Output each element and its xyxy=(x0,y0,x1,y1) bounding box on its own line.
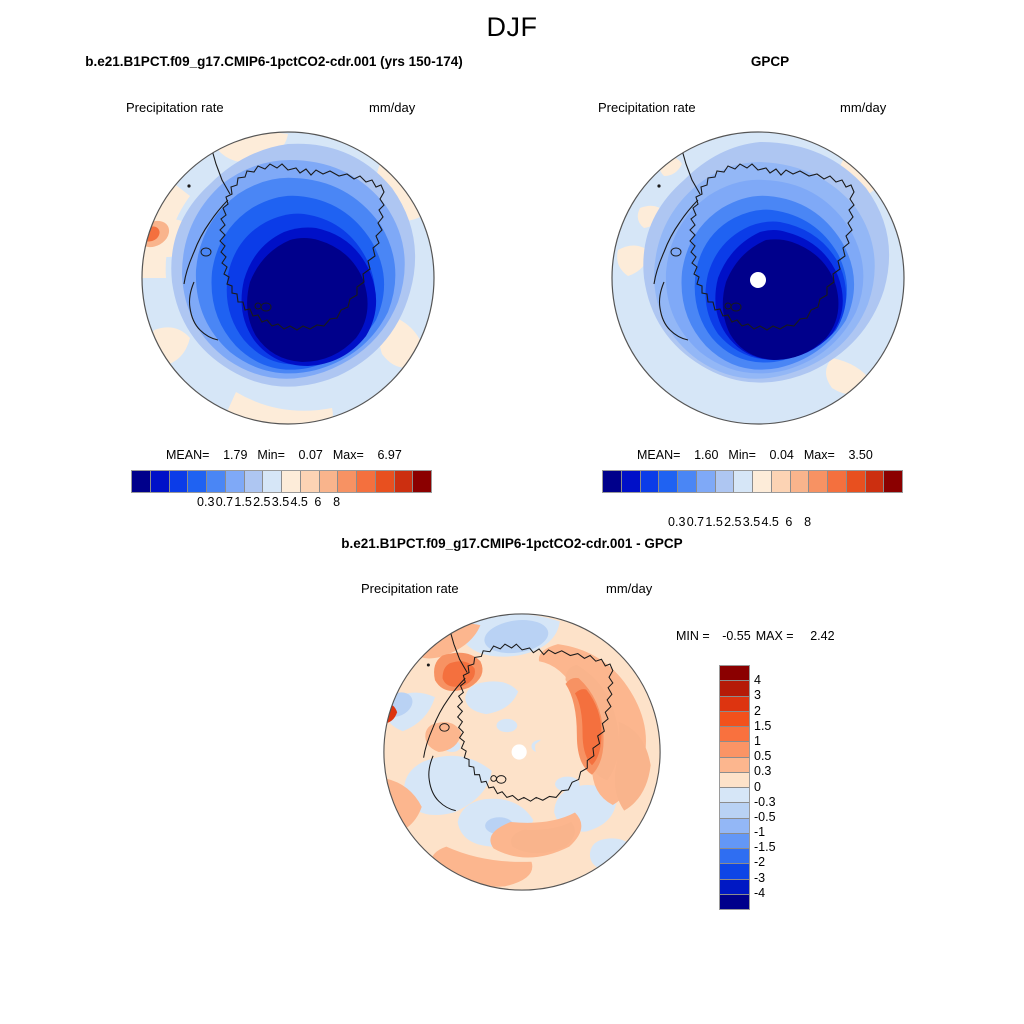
colorbar-cell-13 xyxy=(847,471,866,492)
colorbar-tick-7: 0 xyxy=(754,780,761,794)
colorbar-cell-6 xyxy=(245,471,264,492)
max-label: MAX = xyxy=(756,629,794,643)
colorbar-cell-8 xyxy=(720,788,749,803)
colorbar-cell-13 xyxy=(376,471,395,492)
units-label-model: mm/day xyxy=(369,100,415,115)
colorbar-tick-5: 0.5 xyxy=(754,749,771,763)
colorbar-tick-0: 0.3 xyxy=(197,495,214,509)
stats-difference: MIN = -0.55 MAX = 2.42 xyxy=(676,629,835,643)
colorbar-tick-3: 2.5 xyxy=(724,515,741,529)
colorbar-cell-9 xyxy=(720,803,749,818)
min-label: Min= xyxy=(728,448,755,462)
map-plot-difference[interactable] xyxy=(382,612,662,892)
colorbar-model[interactable] xyxy=(131,470,432,493)
map-field-obs xyxy=(612,132,904,424)
colorbar-tick-1: 0.7 xyxy=(687,515,704,529)
colorbar-tick-0: 4 xyxy=(754,673,761,687)
colorbar-cell-0 xyxy=(603,471,622,492)
colorbar-cell-2 xyxy=(641,471,660,492)
max-value: 3.50 xyxy=(839,448,873,462)
colorbar-cell-3 xyxy=(659,471,678,492)
colorbar-tick-11: -1.5 xyxy=(754,840,776,854)
colorbar-cell-8 xyxy=(753,471,772,492)
colorbar-cell-12 xyxy=(357,471,376,492)
colorbar-cell-13 xyxy=(720,864,749,879)
colorbar-cell-8 xyxy=(282,471,301,492)
colorbar-cell-7 xyxy=(263,471,282,492)
colorbar-cell-15 xyxy=(413,471,431,492)
colorbar-labels-difference: 4321.510.50.30-0.3-0.5-1-1.5-2-3-4 xyxy=(754,665,794,908)
mean-label: MEAN= xyxy=(166,448,209,462)
variable-label-difference: Precipitation rate xyxy=(361,581,459,596)
colorbar-cell-10 xyxy=(720,819,749,834)
colorbar-tick-4: 1 xyxy=(754,734,761,748)
colorbar-cell-10 xyxy=(791,471,810,492)
colorbar-cell-12 xyxy=(720,849,749,864)
colorbar-cell-0 xyxy=(720,666,749,681)
colorbar-tick-12: -2 xyxy=(754,855,765,869)
colorbar-cell-11 xyxy=(720,834,749,849)
colorbar-tick-1: 0.7 xyxy=(216,495,233,509)
colorbar-cell-14 xyxy=(866,471,885,492)
variable-label-obs: Precipitation rate xyxy=(598,100,696,115)
colorbar-cell-2 xyxy=(720,697,749,712)
colorbar-tick-5: 4.5 xyxy=(290,495,307,509)
map-plot-model[interactable] xyxy=(140,130,436,426)
colorbar-cell-15 xyxy=(720,895,749,909)
colorbar-tick-4: 3.5 xyxy=(272,495,289,509)
panel-title-difference: b.e21.B1PCT.f09_g17.CMIP6-1pctCO2-cdr.00… xyxy=(212,536,812,551)
colorbar-cell-3 xyxy=(188,471,207,492)
colorbar-tick-2: 1.5 xyxy=(705,515,722,529)
colorbar-difference[interactable] xyxy=(719,665,750,910)
max-value: 2.42 xyxy=(799,629,835,643)
min-value: -0.55 xyxy=(715,629,751,643)
variable-label-model: Precipitation rate xyxy=(126,100,224,115)
units-label-obs: mm/day xyxy=(840,100,886,115)
stats-model: MEAN= 1.79 Min= 0.07 Max= 6.97 xyxy=(166,448,412,462)
colorbar-tick-7: 8 xyxy=(804,515,811,529)
colorbar-cell-0 xyxy=(132,471,151,492)
colorbar-cell-3 xyxy=(720,712,749,727)
colorbar-cell-1 xyxy=(720,681,749,696)
colorbar-cell-14 xyxy=(720,880,749,895)
colorbar-cell-10 xyxy=(320,471,339,492)
panel-title-obs: GPCP xyxy=(600,54,940,69)
colorbar-tick-6: 0.3 xyxy=(754,764,771,778)
colorbar-tick-0: 0.3 xyxy=(668,515,685,529)
colorbar-tick-2: 1.5 xyxy=(234,495,251,509)
colorbar-tick-9: -0.5 xyxy=(754,810,776,824)
colorbar-tick-14: -4 xyxy=(754,886,765,900)
colorbar-cell-5 xyxy=(720,742,749,757)
colorbar-tick-3: 1.5 xyxy=(754,719,771,733)
colorbar-tick-13: -3 xyxy=(754,871,765,885)
min-label: Min= xyxy=(257,448,284,462)
colorbar-tick-5: 4.5 xyxy=(761,515,778,529)
min-label: MIN = xyxy=(676,629,710,643)
colorbar-cell-2 xyxy=(170,471,189,492)
colorbar-tick-8: -0.3 xyxy=(754,795,776,809)
colorbar-tick-6: 6 xyxy=(785,515,792,529)
colorbar-cell-11 xyxy=(338,471,357,492)
max-label: Max= xyxy=(333,448,364,462)
figure-title: DJF xyxy=(0,12,1024,43)
min-value: 0.07 xyxy=(289,448,323,462)
colorbar-cell-7 xyxy=(734,471,753,492)
colorbar-tick-7: 8 xyxy=(333,495,340,509)
colorbar-tick-6: 6 xyxy=(314,495,321,509)
colorbar-cell-1 xyxy=(151,471,170,492)
colorbar-cell-12 xyxy=(828,471,847,492)
colorbar-obs[interactable] xyxy=(602,470,903,493)
pole-missing-data xyxy=(512,744,527,759)
colorbar-cell-4 xyxy=(207,471,226,492)
map-plot-obs[interactable] xyxy=(610,130,906,426)
units-label-difference: mm/day xyxy=(606,581,652,596)
colorbar-tick-2: 2 xyxy=(754,704,761,718)
colorbar-tick-3: 2.5 xyxy=(253,495,270,509)
mean-value: 1.79 xyxy=(213,448,247,462)
colorbar-tick-10: -1 xyxy=(754,825,765,839)
colorbar-cell-14 xyxy=(395,471,414,492)
colorbar-labels-model: 0.30.71.52.53.54.568 xyxy=(131,495,430,515)
max-label: Max= xyxy=(804,448,835,462)
colorbar-cell-6 xyxy=(716,471,735,492)
colorbar-cell-4 xyxy=(720,727,749,742)
pole-missing-data xyxy=(750,272,766,288)
colorbar-tick-4: 3.5 xyxy=(743,515,760,529)
colorbar-cell-15 xyxy=(884,471,902,492)
colorbar-cell-11 xyxy=(809,471,828,492)
colorbar-cell-6 xyxy=(720,758,749,773)
max-value: 6.97 xyxy=(368,448,402,462)
colorbar-cell-9 xyxy=(301,471,320,492)
mean-label: MEAN= xyxy=(637,448,680,462)
colorbar-labels-obs: 0.30.71.52.53.54.568 xyxy=(602,515,901,535)
mean-value: 1.60 xyxy=(684,448,718,462)
colorbar-cell-5 xyxy=(226,471,245,492)
colorbar-cell-1 xyxy=(622,471,641,492)
colorbar-tick-1: 3 xyxy=(754,688,761,702)
colorbar-cell-7 xyxy=(720,773,749,788)
colorbar-cell-9 xyxy=(772,471,791,492)
colorbar-cell-4 xyxy=(678,471,697,492)
panel-title-model: b.e21.B1PCT.f09_g17.CMIP6-1pctCO2-cdr.00… xyxy=(44,54,504,69)
stats-obs: MEAN= 1.60 Min= 0.04 Max= 3.50 xyxy=(637,448,883,462)
colorbar-cell-5 xyxy=(697,471,716,492)
min-value: 0.04 xyxy=(760,448,794,462)
